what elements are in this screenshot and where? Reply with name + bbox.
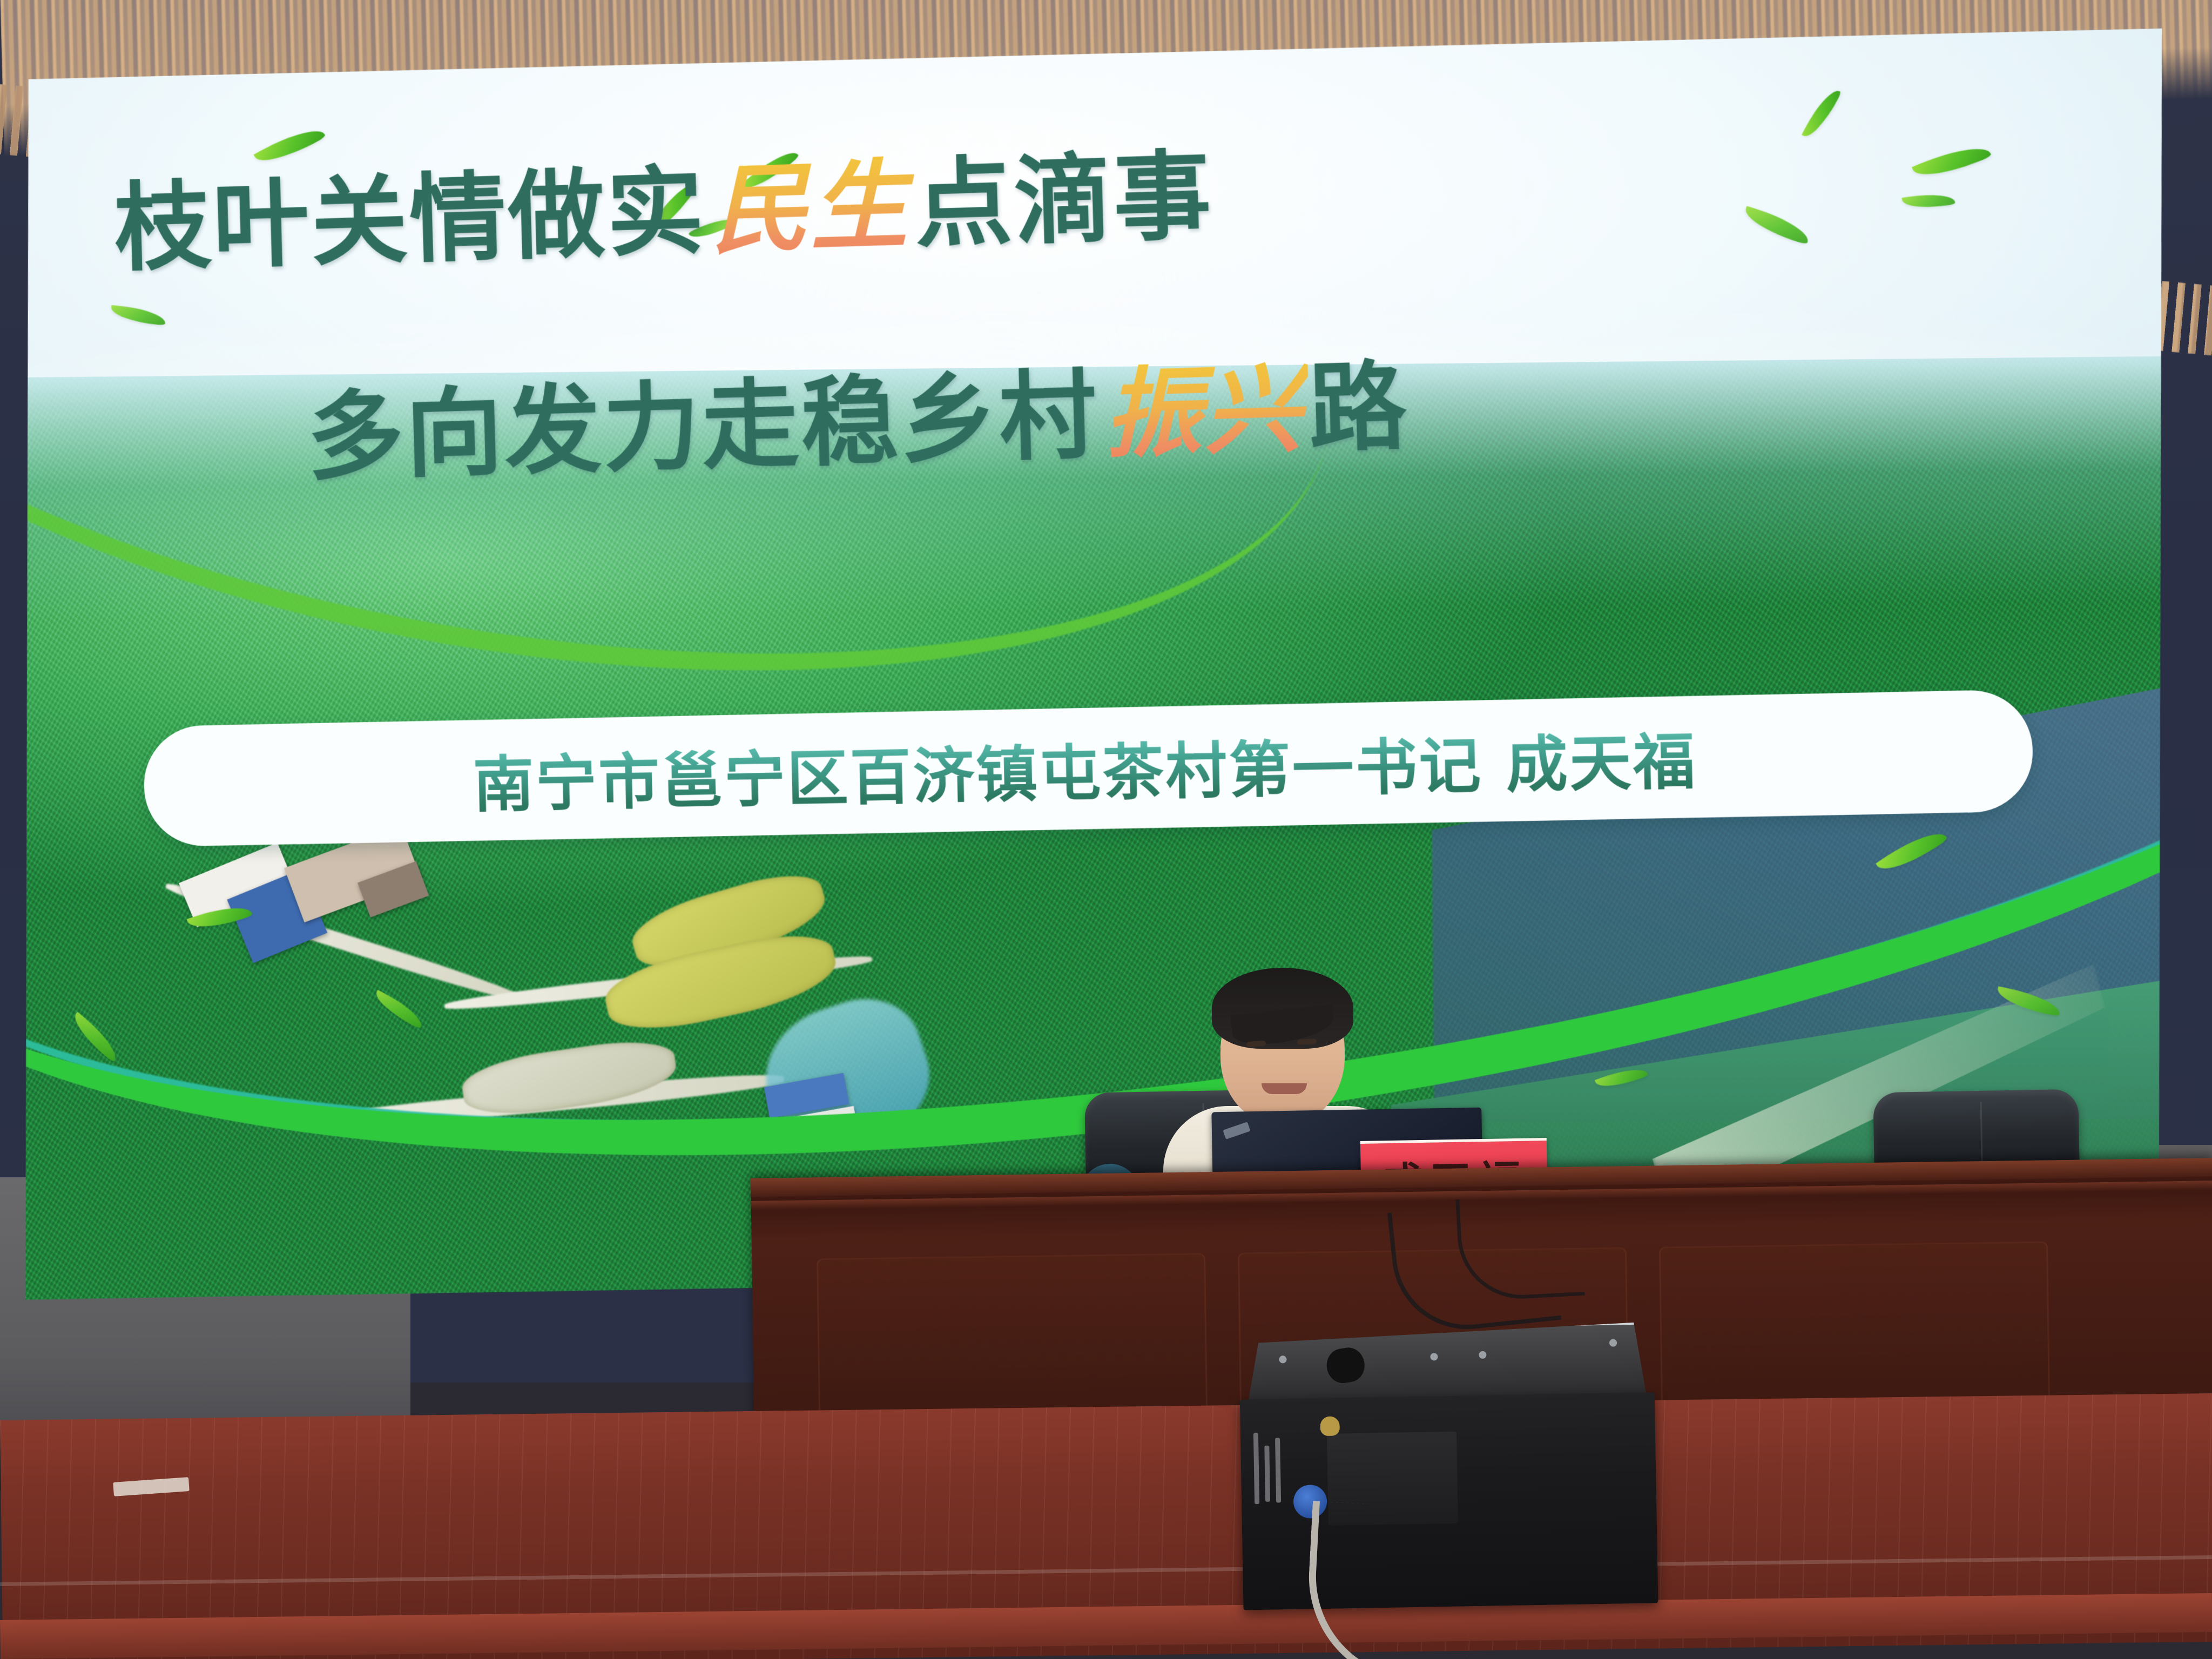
monitor-handle-hole bbox=[1324, 1345, 1367, 1385]
monitor-cable bbox=[1304, 1501, 1475, 1659]
monitor-body bbox=[1240, 1392, 1658, 1610]
stage-monitor-speaker bbox=[1235, 1322, 1661, 1610]
tea-leaf-icon bbox=[1912, 137, 1992, 186]
speaker-hair bbox=[1212, 968, 1353, 1049]
tea-leaf-icon bbox=[1741, 206, 1813, 244]
monitor-screw bbox=[1479, 1351, 1486, 1359]
monitor-screw bbox=[1279, 1355, 1286, 1363]
monitor-brand-logo bbox=[1320, 1416, 1340, 1436]
laptop-logo bbox=[1223, 1122, 1250, 1139]
monitor-screw bbox=[1430, 1353, 1438, 1360]
speaker-eye-right bbox=[1297, 1038, 1317, 1045]
tea-leaf-icon bbox=[1802, 85, 1842, 142]
monitor-screw bbox=[1609, 1339, 1617, 1346]
stage-photo-scene: 枝叶关情做实民生点滴事 多向发力走稳乡村振兴路 南宁市邕宁区百济镇屯茶村第一书记… bbox=[0, 0, 2212, 1659]
slide-speaker-banner-text: 南宁市邕宁区百济镇屯茶村第一书记 成天福 bbox=[472, 712, 1697, 824]
speaker-mouth bbox=[1262, 1083, 1307, 1094]
tea-leaf-icon bbox=[1901, 190, 1955, 212]
